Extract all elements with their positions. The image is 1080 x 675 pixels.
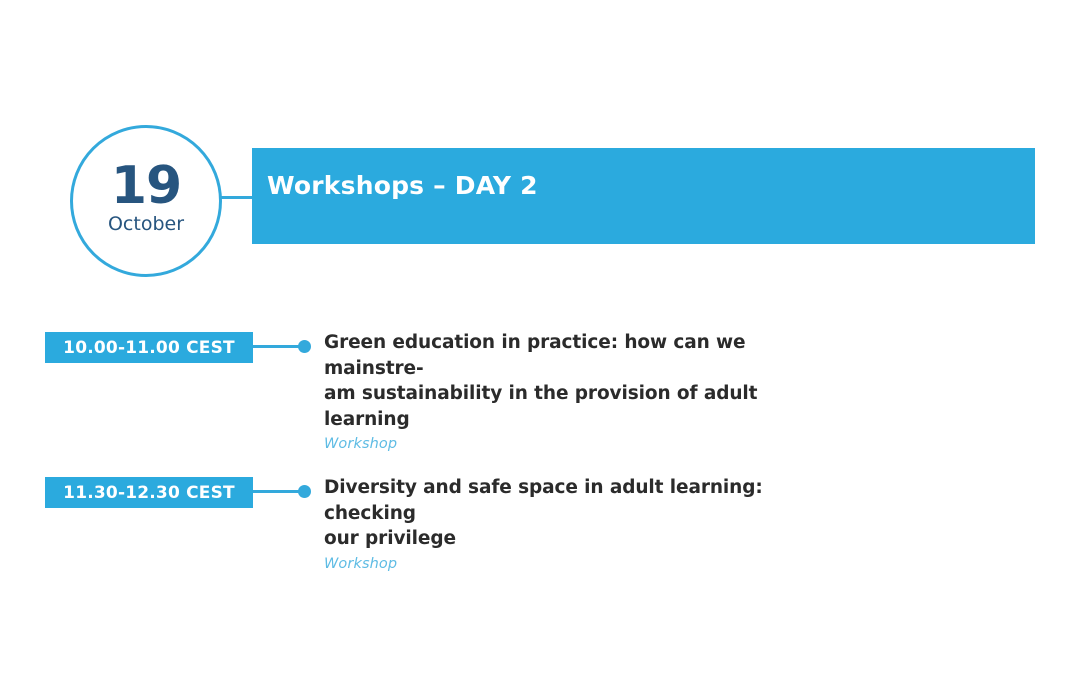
session-row: 11.30-12.30 CEST Diversity and safe spac… xyxy=(0,475,1080,565)
session-text-block: Green education in practice: how can we … xyxy=(324,330,844,452)
session-bullet-dot xyxy=(298,340,311,353)
session-type-label: Workshop xyxy=(324,436,844,452)
session-title-line-1: Green education in practice: how can we … xyxy=(324,332,745,379)
session-connector-line xyxy=(253,345,303,348)
date-month-label: October xyxy=(108,214,184,235)
session-row: 10.00-11.00 CEST Green education in prac… xyxy=(0,330,1080,420)
day-header: 19 October Workshops – DAY 2 xyxy=(0,125,1080,275)
agenda-slide: { "theme": { "accent_blue": "#2BAADE", "… xyxy=(0,0,1080,675)
date-day-number: 19 xyxy=(111,163,181,211)
day-title-text: Workshops – DAY 2 xyxy=(252,171,538,200)
day-title-bar: Workshops – DAY 2 xyxy=(252,148,1035,244)
session-title-line-2: am sustainability in the provision of ad… xyxy=(324,383,757,430)
session-text-block: Diversity and safe space in adult learni… xyxy=(324,475,844,572)
session-connector-line xyxy=(253,490,303,493)
session-title: Diversity and safe space in adult learni… xyxy=(324,475,844,552)
date-circle-badge: 19 October xyxy=(70,125,222,277)
session-bullet-dot xyxy=(298,485,311,498)
session-type-label: Workshop xyxy=(324,556,844,572)
session-time-label: 10.00-11.00 CEST xyxy=(63,338,235,358)
session-time-badge: 11.30-12.30 CEST xyxy=(45,477,253,508)
session-title-line-1: Diversity and safe space in adult learni… xyxy=(324,477,763,524)
session-title-line-2: our privilege xyxy=(324,528,456,549)
session-time-label: 11.30-12.30 CEST xyxy=(63,483,235,503)
session-title: Green education in practice: how can we … xyxy=(324,330,844,432)
session-time-badge: 10.00-11.00 CEST xyxy=(45,332,253,363)
